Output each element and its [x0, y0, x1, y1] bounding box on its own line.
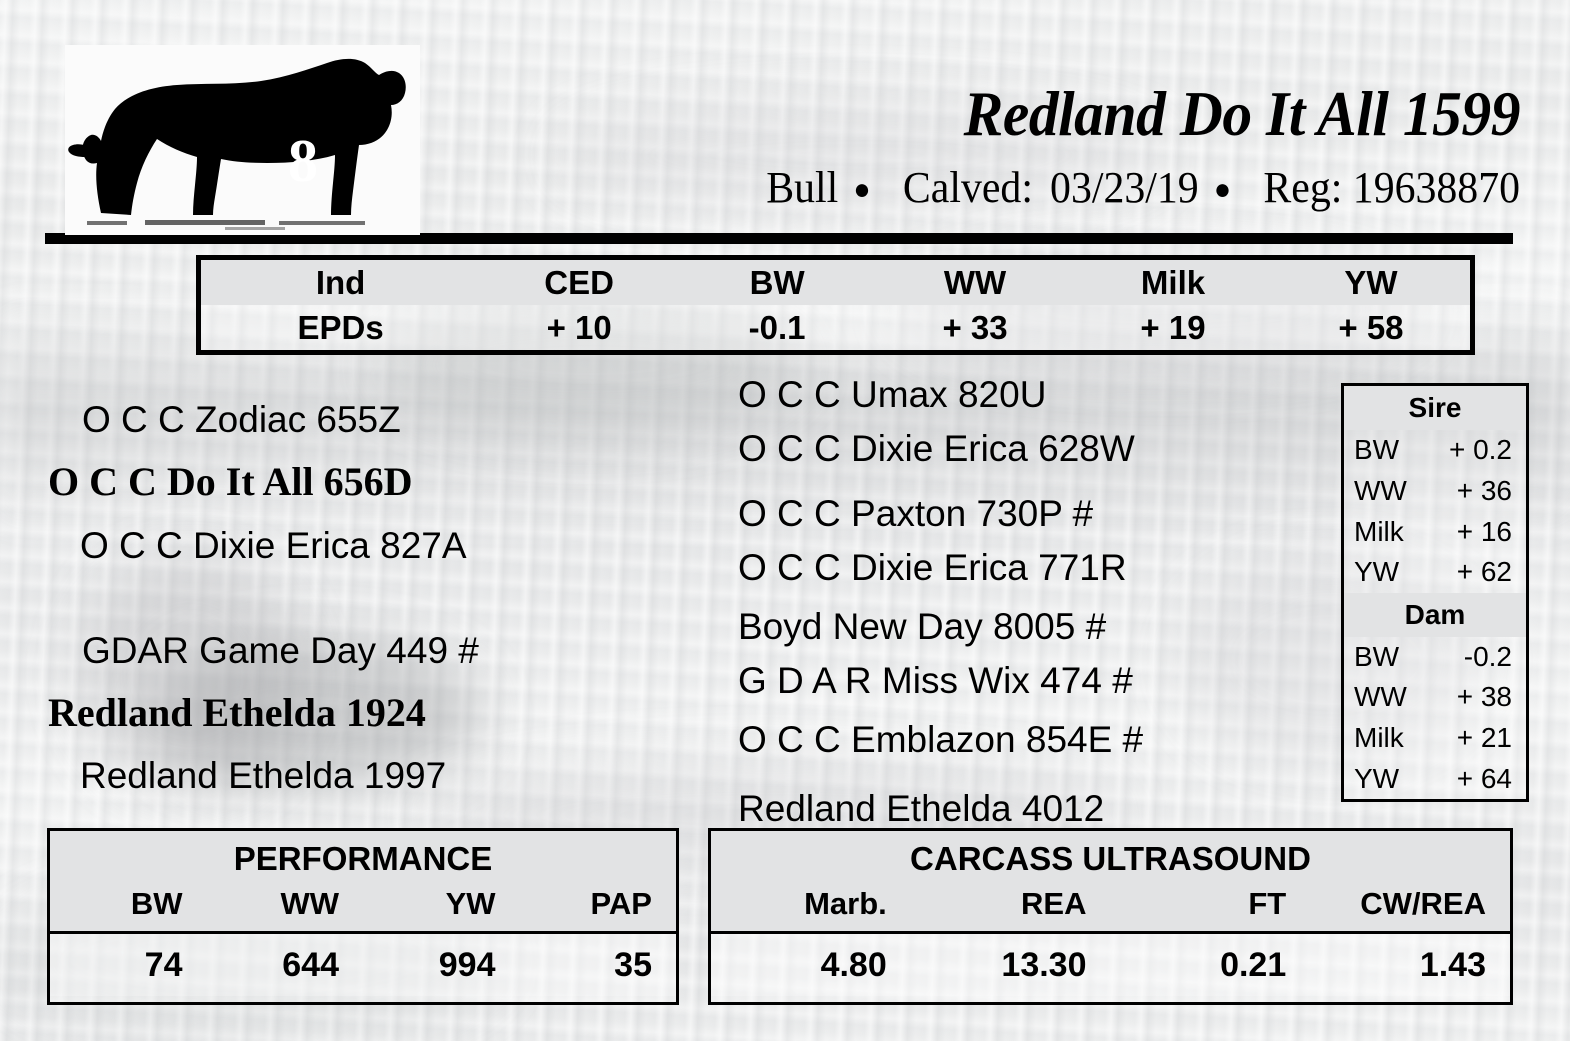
epd-header-bw: BW	[678, 260, 876, 305]
carcass-value-rea: 13.30	[911, 934, 1111, 996]
bull-silhouette-logo: 8	[65, 45, 420, 235]
dam-epd-row-bw: BW -0.2	[1344, 637, 1526, 678]
pedigree-dam-of-sire: O C C Dixie Erica 827A	[80, 526, 467, 566]
sire-epd-row-bw: BW + 0.2	[1344, 430, 1526, 471]
performance-header-row: BW WW YW PAP	[50, 883, 676, 931]
dam-epd-trait-milk: Milk	[1354, 722, 1404, 754]
epd-row-label-ind: Ind	[201, 260, 480, 305]
carcass-header-ft: FT	[1111, 883, 1311, 925]
performance-header-pap: PAP	[520, 883, 677, 925]
dam-epd-row-yw: YW + 64	[1344, 758, 1526, 799]
pedigree-great-grandparent-1: O C C Umax 820U	[738, 375, 1046, 415]
performance-header-yw: YW	[363, 883, 520, 925]
performance-header-bw: BW	[50, 883, 207, 925]
pedigree-great-grandparent-3: O C C Paxton 730P #	[738, 494, 1093, 534]
carcass-header-marb: Marb.	[711, 883, 911, 925]
carcass-value-ft: 0.21	[1111, 934, 1311, 996]
carcass-caption: CARCASS ULTRASOUND	[711, 831, 1510, 883]
carcass-header-cwrea: CW/REA	[1310, 883, 1510, 925]
pedigree-great-grandparent-7: O C C Emblazon 854E #	[738, 720, 1143, 760]
sire-epd-row-yw: YW + 62	[1344, 552, 1526, 593]
sale-catalog-page: 8 Redland Do It All 1599 Bull●Calved:03/…	[0, 0, 1570, 1041]
carcass-value-marb: 4.80	[711, 934, 911, 996]
animal-name-title: Redland Do It All 1599	[702, 80, 1520, 148]
dam-epd-value-yw: + 64	[1457, 763, 1512, 795]
performance-caption: PERFORMANCE	[50, 831, 676, 883]
sire-epd-value-yw: + 62	[1457, 556, 1512, 588]
sire-epd-value-bw: + 0.2	[1449, 434, 1512, 466]
epd-header-row: Ind CED BW WW Milk YW	[201, 260, 1470, 305]
epd-header-milk: Milk	[1074, 260, 1272, 305]
dam-epd-row-ww: WW + 38	[1344, 677, 1526, 718]
sire-epd-trait-milk: Milk	[1354, 516, 1404, 548]
calved-date: 03/23/19	[1050, 163, 1199, 212]
lot-number: 8	[253, 131, 353, 191]
epd-row-label-epds: EPDs	[201, 305, 480, 350]
dam-epd-value-milk: + 21	[1457, 722, 1512, 754]
epd-value-yw: + 58	[1272, 305, 1470, 350]
performance-value-ww: 644	[207, 934, 364, 996]
bullet-separator-1: ●	[853, 165, 870, 215]
epd-table: Ind CED BW WW Milk YW EPDs + 10 -0.1 + 3…	[196, 255, 1475, 355]
performance-header-ww: WW	[207, 883, 364, 925]
sex-label: Bull	[766, 163, 838, 212]
pedigree-great-grandparent-8: Redland Ethelda 4012	[738, 789, 1104, 829]
dam-epd-title: Dam	[1344, 593, 1526, 637]
dam-epd-row-milk: Milk + 21	[1344, 718, 1526, 759]
pedigree-great-grandparent-5: Boyd New Day 8005 #	[738, 607, 1106, 647]
epd-value-bw: -0.1	[678, 305, 876, 350]
animal-subtitle: Bull●Calved:03/23/19●Reg: 19638870	[475, 163, 1520, 215]
carcass-header-rea: REA	[911, 883, 1111, 925]
pedigree-dam: Redland Ethelda 1924	[48, 693, 426, 733]
calved-label: Calved:	[903, 163, 1033, 212]
carcass-value-cwrea: 1.43	[1310, 934, 1510, 996]
sire-epd-title: Sire	[1344, 386, 1526, 430]
pedigree-great-grandparent-4: O C C Dixie Erica 771R	[738, 548, 1127, 588]
epd-values-row: EPDs + 10 -0.1 + 33 + 19 + 58	[201, 305, 1470, 350]
dam-epd-trait-ww: WW	[1354, 681, 1407, 713]
epd-header-ced: CED	[480, 260, 678, 305]
pedigree-dam-of-dam: Redland Ethelda 1997	[80, 756, 446, 796]
dam-epd-value-ww: + 38	[1457, 681, 1512, 713]
epd-header-ww: WW	[876, 260, 1074, 305]
epd-value-ced: + 10	[480, 305, 678, 350]
pedigree-sire-of-sire: O C C Zodiac 655Z	[82, 400, 401, 440]
pedigree-great-grandparent-6: G D A R Miss Wix 474 #	[738, 661, 1133, 701]
performance-values-row: 74 644 994 35	[50, 931, 676, 996]
epd-header-yw: YW	[1272, 260, 1470, 305]
sire-epd-value-ww: + 36	[1457, 475, 1512, 507]
sire-epd-value-milk: + 16	[1457, 516, 1512, 548]
performance-value-bw: 74	[50, 934, 207, 996]
sire-epd-trait-bw: BW	[1354, 434, 1399, 466]
sire-epd-row-milk: Milk + 16	[1344, 511, 1526, 552]
carcass-header-row: Marb. REA FT CW/REA	[711, 883, 1510, 931]
sire-dam-epd-box: Sire BW + 0.2 WW + 36 Milk + 16 YW + 62 …	[1341, 383, 1529, 802]
performance-value-yw: 994	[363, 934, 520, 996]
sire-epd-row-ww: WW + 36	[1344, 471, 1526, 512]
carcass-ultrasound-table: CARCASS ULTRASOUND Marb. REA FT CW/REA 4…	[708, 828, 1513, 1005]
carcass-values-row: 4.80 13.30 0.21 1.43	[711, 931, 1510, 996]
sire-epd-trait-ww: WW	[1354, 475, 1407, 507]
bullet-separator-2: ●	[1214, 165, 1231, 215]
epd-value-ww: + 33	[876, 305, 1074, 350]
pedigree-sire: O C C Do It All 656D	[48, 462, 412, 502]
dam-epd-trait-yw: YW	[1354, 763, 1399, 795]
dam-epd-value-bw: -0.2	[1464, 641, 1512, 673]
registration-number: Reg: 19638870	[1263, 163, 1520, 212]
bull-icon	[65, 45, 420, 235]
sire-epd-trait-yw: YW	[1354, 556, 1399, 588]
pedigree-sire-of-dam: GDAR Game Day 449 #	[82, 631, 479, 671]
epd-value-milk: + 19	[1074, 305, 1272, 350]
pedigree-great-grandparent-2: O C C Dixie Erica 628W	[738, 429, 1135, 469]
dam-epd-trait-bw: BW	[1354, 641, 1399, 673]
performance-value-pap: 35	[520, 934, 677, 996]
performance-table: PERFORMANCE BW WW YW PAP 74 644 994 35	[47, 828, 679, 1005]
